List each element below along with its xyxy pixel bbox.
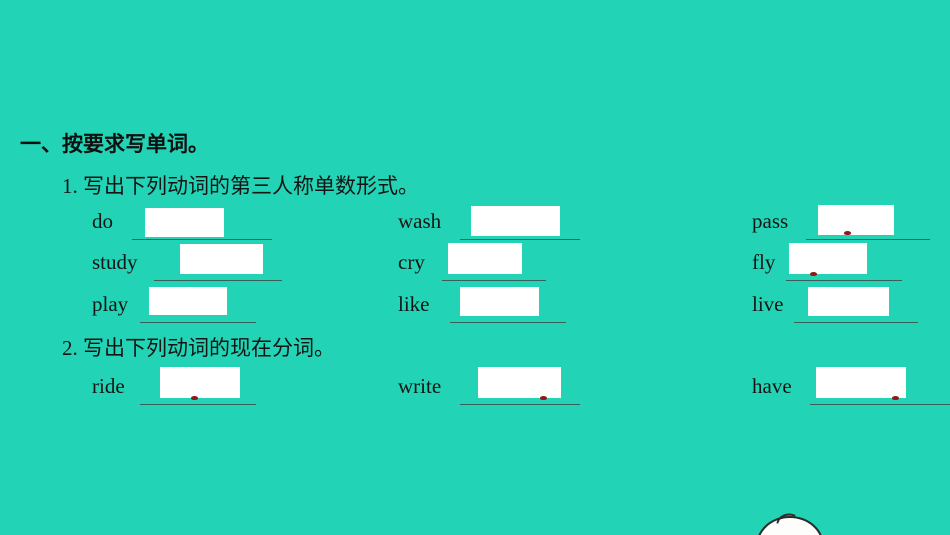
mascot-character-icon (752, 512, 824, 535)
correction-mark (844, 231, 851, 235)
word-label: pass (752, 206, 788, 236)
answer-cover (816, 367, 906, 398)
word-label: fly (752, 247, 775, 277)
answer-cover (145, 208, 224, 237)
answer-cover (478, 367, 561, 398)
answer-cover (789, 243, 867, 274)
answer-cover (180, 244, 263, 274)
answer-cover (818, 205, 894, 235)
word-label: cry (398, 247, 425, 277)
answer-cover (160, 367, 240, 398)
answer-cover (448, 243, 522, 274)
correction-mark (810, 272, 817, 276)
answer-cover (471, 206, 560, 236)
answer-cover (149, 287, 227, 315)
answer-cover (808, 287, 889, 316)
word-label: live (752, 289, 784, 319)
correction-mark (540, 396, 547, 400)
worksheet-slide: 一、按要求写单词。 1. 写出下列动词的第三人称单数形式。 do wash pa… (0, 0, 950, 535)
word-label: ride (92, 371, 125, 401)
word-label: wash (398, 206, 441, 236)
correction-mark (892, 396, 899, 400)
question-2-prompt: 2. 写出下列动词的现在分词。 (62, 332, 335, 362)
answer-cover (460, 287, 539, 316)
word-label: do (92, 206, 113, 236)
word-label: write (398, 371, 441, 401)
page-title: 一、按要求写单词。 (20, 128, 209, 158)
word-label: study (92, 247, 138, 277)
word-label: like (398, 289, 430, 319)
word-label: have (752, 371, 792, 401)
question-1-prompt: 1. 写出下列动词的第三人称单数形式。 (62, 170, 419, 200)
correction-mark (191, 396, 198, 400)
word-label: play (92, 289, 128, 319)
